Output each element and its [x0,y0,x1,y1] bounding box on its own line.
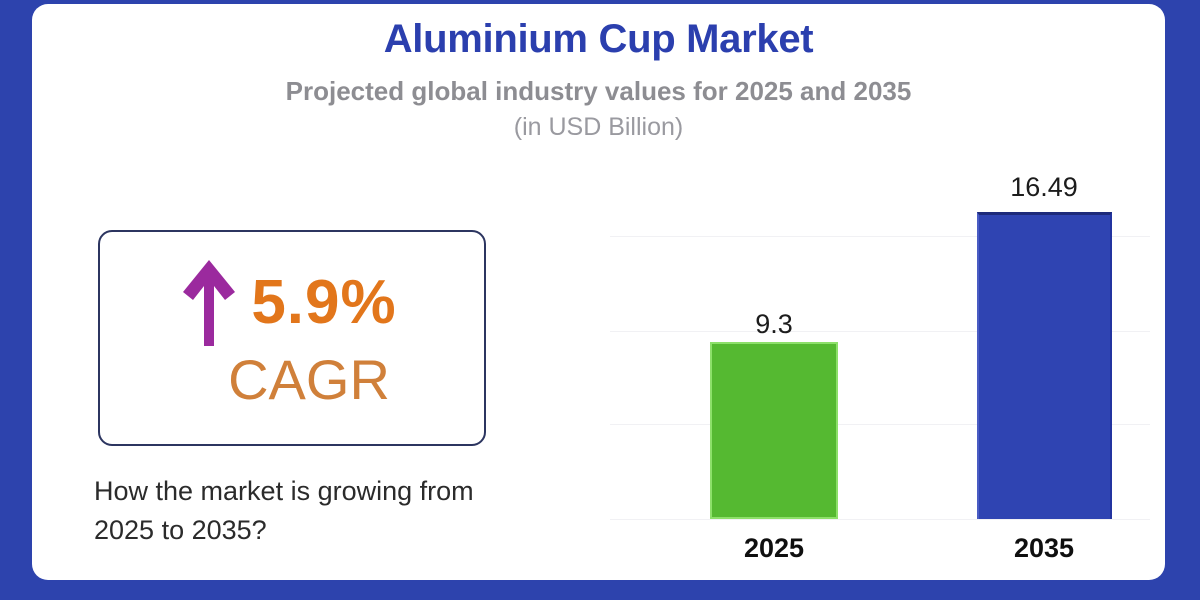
content-card: Aluminium Cup Market Projected global in… [32,4,1165,580]
bar-category-2035: 2035 [964,535,1124,562]
cagr-callout-box: 5.9% CAGR [98,230,486,446]
infographic-frame: Aluminium Cup Market Projected global in… [0,0,1200,600]
bar-2025[interactable] [710,342,838,519]
growth-caption: How the market is growing from 2025 to 2… [94,472,534,550]
arrow-up-icon [181,258,237,348]
bar-2035[interactable] [977,212,1112,519]
bar-category-2025: 2025 [694,535,854,562]
cagr-label: CAGR [100,352,484,408]
bar-value-2035: 16.49 [964,174,1124,201]
bar-value-2025: 9.3 [694,311,854,338]
bar-group [977,212,1112,519]
cagr-value: 5.9% [251,272,396,334]
bar-group [710,342,838,519]
bar-chart-plot: 9.3 2025 16.49 2035 [578,4,1165,580]
gridline [610,519,1150,520]
cagr-value-row: 5.9% [100,258,484,348]
